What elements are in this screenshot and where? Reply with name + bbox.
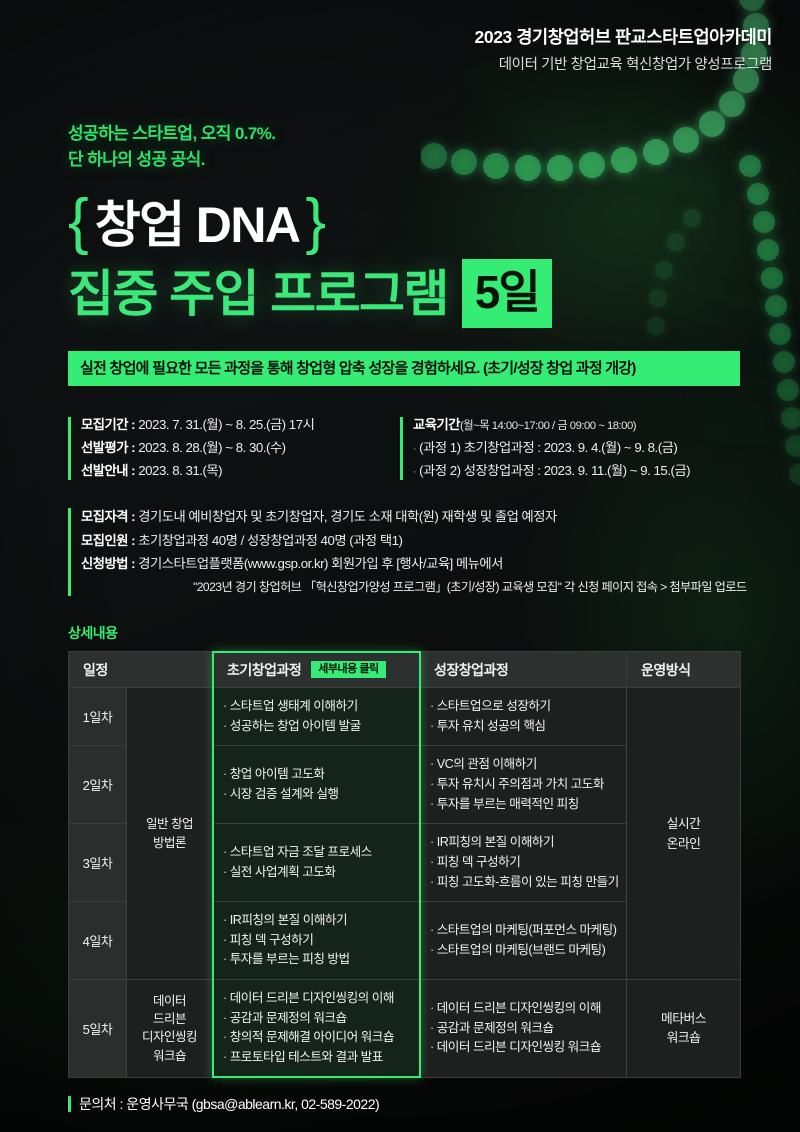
list-item: ·데이터 드리븐 디자인씽킹 워크숍 bbox=[430, 1038, 618, 1058]
bullet-icon: · bbox=[413, 466, 416, 478]
bullet-icon: · bbox=[223, 787, 227, 801]
education-course-1: (과정 1) 초기창업과정 : 2023. 9. 4.(월) ~ 9. 8.(금… bbox=[419, 440, 677, 455]
row-course-a[interactable]: ·창업 아이템 고도화·시장 검증 설계와 실행 bbox=[213, 746, 420, 824]
row-course-b: ·스타트업의 마케팅(퍼포먼스 마케팅)·스타트업의 마케팅(브랜드 마케팅) bbox=[420, 902, 627, 980]
education-period-hours: (월~목 14:00~17:00 / 금 09:00 ~ 18:00) bbox=[460, 420, 636, 432]
education-course-2: (과정 2) 성장창업과정 : 2023. 9. 11.(월) ~ 9. 15.… bbox=[419, 463, 690, 478]
schedule-table: 일정 초기창업과정 세부내용 클릭 성장창업과정 운영방식 bbox=[68, 651, 741, 1078]
hero-title-row-2: 집중 주입 프로그램 5일 bbox=[68, 263, 800, 325]
bullet-icon: · bbox=[430, 875, 434, 889]
bullet-icon: · bbox=[430, 1040, 434, 1054]
list-item: ·투자 유치시 주의점과 가치 고도화 bbox=[430, 775, 618, 795]
row-course-b: ·스타트업으로 성장하기·투자 유치 성공의 핵심 bbox=[420, 688, 627, 746]
info-line: 모집기간 : 2023. 7. 31.(월) ~ 8. 25.(금) 17시 bbox=[81, 414, 378, 437]
bullet-icon: · bbox=[223, 913, 227, 927]
track-data: 데이터드리븐디자인씽킹워크숍 bbox=[127, 980, 213, 1078]
row-course-a[interactable]: ·IR피칭의 본질 이해하기·피칭 덱 구성하기·투자를 부르는 피칭 방법 bbox=[213, 902, 420, 980]
bullet-icon: · bbox=[223, 1011, 227, 1025]
bullet-icon: · bbox=[430, 699, 434, 713]
list-item: ·스타트업으로 성장하기 bbox=[430, 697, 618, 717]
poster-header: 2023 경기창업허브 판교스타트업아카데미 데이터 기반 창업교육 혁신창업가… bbox=[0, 0, 800, 75]
info-col-education-period: 교육기간(월~목 14:00~17:00 / 금 09:00 ~ 18:00) … bbox=[400, 414, 758, 483]
list-item: ·투자를 부르는 피칭 방법 bbox=[223, 950, 411, 970]
bullet-icon: · bbox=[413, 443, 416, 455]
col-header-course-a[interactable]: 초기창업과정 세부내용 클릭 bbox=[213, 652, 420, 688]
contact-line: 문의처 : 운영사무국 (gbsa@ablearn.kr, 02-589-202… bbox=[68, 1094, 668, 1114]
bullet-icon: · bbox=[223, 719, 227, 733]
accent-bar bbox=[68, 417, 71, 480]
row-course-b: ·VC의 관점 이해하기·투자 유치시 주의점과 가치 고도화·투자를 부르는 … bbox=[420, 746, 627, 824]
poster-root: 2023 경기창업허브 판교스타트업아카데미 데이터 기반 창업교육 혁신창업가… bbox=[0, 0, 800, 1132]
list-item: ·실전 사업계획 고도화 bbox=[223, 863, 411, 883]
bullet-icon: · bbox=[430, 777, 434, 791]
bullet-icon: · bbox=[430, 719, 434, 733]
hero-kicker-line1: 성공하는 스타트업, 오직 0.7%. bbox=[68, 121, 800, 147]
row-course-b: ·IR피칭의 본질 이해하기·피칭 덱 구성하기·피칭 고도화-흐름이 있는 피… bbox=[420, 824, 627, 902]
info-line: 모집자격 : 경기도내 예비창업자 및 초기창업자, 경기도 소재 대학(원) … bbox=[81, 505, 758, 529]
table-row: 1일차 일반 창업방법론 ·스타트업 생태계 이해하기·성공하는 창업 아이템 … bbox=[69, 688, 741, 746]
info-value: 경기스타트업플랫폼(www.gsp.or.kr) 회원가입 후 [행사/교육] … bbox=[138, 556, 503, 571]
list-item: ·IR피칭의 본질 이해하기 bbox=[223, 911, 411, 931]
list-item: ·피칭 고도화-흐름이 있는 피칭 만들기 bbox=[430, 873, 618, 893]
info-label: 모집자격 : bbox=[81, 509, 135, 524]
info-columns: 모집기간 : 2023. 7. 31.(월) ~ 8. 25.(금) 17시 선… bbox=[68, 414, 758, 483]
row-course-a[interactable]: ·데이터 드리븐 디자인씽킹의 이해·공감과 문제정의 워크숍·창의적 문제해결… bbox=[213, 980, 420, 1078]
info-col-recruitment: 모집기간 : 2023. 7. 31.(월) ~ 8. 25.(금) 17시 선… bbox=[68, 414, 378, 483]
bullet-icon: · bbox=[223, 767, 227, 781]
list-item: ·피칭 덱 구성하기 bbox=[430, 853, 618, 873]
list-item: ·데이터 드리븐 디자인씽킹의 이해 bbox=[223, 989, 411, 1009]
education-period-label: 교육기간 bbox=[413, 417, 460, 432]
bullet-icon: · bbox=[430, 797, 434, 811]
brace-open-icon: { bbox=[68, 191, 89, 253]
list-item: ·공감과 문제정의 워크숍 bbox=[223, 1009, 411, 1029]
row-day: 5일차 bbox=[69, 980, 127, 1078]
list-item: ·VC의 관점 이해하기 bbox=[430, 755, 618, 775]
row-course-b: ·데이터 드리븐 디자인씽킹의 이해·공감과 문제정의 워크숍·데이터 드리븐 … bbox=[420, 980, 627, 1078]
track-general: 일반 창업방법론 bbox=[127, 688, 213, 980]
list-item: ·스타트업의 마케팅(브랜드 마케팅) bbox=[430, 941, 618, 961]
row-course-a[interactable]: ·스타트업 자금 조달 프로세스·실전 사업계획 고도화 bbox=[213, 824, 420, 902]
list-item: ·창의적 문제해결 아이디어 워크숍 bbox=[223, 1028, 411, 1048]
info-value: 초기창업과정 40명 / 성장창업과정 40명 (과정 택1) bbox=[138, 533, 402, 548]
info-line: 신청방법 : 경기스타트업플랫폼(www.gsp.or.kr) 회원가입 후 [… bbox=[81, 552, 758, 576]
list-item: ·투자를 부르는 매력적인 피칭 bbox=[430, 795, 618, 815]
hero-title-line2: 집중 주입 프로그램 bbox=[68, 269, 448, 319]
schedule-section-title: 상세내용 bbox=[68, 623, 800, 643]
info-line: 선발평가 : 2023. 8. 28.(월) ~ 8. 30.(수) bbox=[81, 437, 378, 460]
list-item: ·창업 아이템 고도화 bbox=[223, 765, 411, 785]
hero-kicker-line2: 단 하나의 성공 공식. bbox=[68, 147, 800, 173]
list-item: ·스타트업 자금 조달 프로세스 bbox=[223, 843, 411, 863]
bullet-icon: · bbox=[223, 1030, 227, 1044]
bullet-icon: · bbox=[430, 757, 434, 771]
mode-metaverse: 메타버스워크숍 bbox=[627, 980, 741, 1078]
info-line: ·(과정 2) 성장창업과정 : 2023. 9. 11.(월) ~ 9. 15… bbox=[413, 460, 758, 483]
hero-green-bar: 실전 창업에 필요한 모든 과정을 통해 창업형 압축 성장을 경험하세요. (… bbox=[68, 351, 740, 387]
list-item: ·스타트업의 마케팅(퍼포먼스 마케팅) bbox=[430, 921, 618, 941]
accent-bar bbox=[400, 417, 403, 480]
col-header-course-b: 성장창업과정 bbox=[420, 652, 627, 688]
bullet-icon: · bbox=[223, 991, 227, 1005]
hero-kicker: 성공하는 스타트업, 오직 0.7%. 단 하나의 성공 공식. bbox=[68, 121, 800, 173]
col-header-course-a-label: 초기창업과정 bbox=[227, 660, 301, 680]
accent-bar bbox=[68, 1096, 71, 1112]
bullet-icon: · bbox=[430, 923, 434, 937]
application-note: "2023년 경기 창업허브 「혁신창업가양성 프로그램」(초기/성장) 교육생… bbox=[81, 576, 758, 599]
hero-section: 성공하는 스타트업, 오직 0.7%. 단 하나의 성공 공식. { 창업 DN… bbox=[0, 75, 800, 325]
info-label: 선발평가 : bbox=[81, 440, 135, 455]
bullet-icon: · bbox=[223, 952, 227, 966]
list-item: ·시장 검증 설계와 실행 bbox=[223, 785, 411, 805]
hero-title-line1: 창업 DNA bbox=[95, 200, 300, 250]
row-day: 1일차 bbox=[69, 688, 127, 746]
list-item: ·성공하는 창업 아이템 발굴 bbox=[223, 717, 411, 737]
row-day: 4일차 bbox=[69, 902, 127, 980]
row-course-a[interactable]: ·스타트업 생태계 이해하기·성공하는 창업 아이템 발굴 bbox=[213, 688, 420, 746]
table-header-row: 일정 초기창업과정 세부내용 클릭 성장창업과정 운영방식 bbox=[69, 652, 741, 688]
hero-title-row-1: { 창업 DNA } bbox=[68, 195, 800, 255]
table-row: 5일차 데이터드리븐디자인씽킹워크숍 ·데이터 드리븐 디자인씽킹의 이해·공감… bbox=[69, 980, 741, 1078]
bullet-icon: · bbox=[430, 835, 434, 849]
bullet-icon: · bbox=[430, 1001, 434, 1015]
schedule-table-body: 1일차 일반 창업방법론 ·스타트업 생태계 이해하기·성공하는 창업 아이템 … bbox=[69, 688, 741, 1078]
info-value: 2023. 8. 31.(목) bbox=[138, 463, 222, 478]
info-line: ·(과정 1) 초기창업과정 : 2023. 9. 4.(월) ~ 9. 8.(… bbox=[413, 437, 758, 460]
list-item: ·스타트업 생태계 이해하기 bbox=[223, 697, 411, 717]
info-label: 신청방법 : bbox=[81, 556, 135, 571]
bullet-icon: · bbox=[223, 845, 227, 859]
list-item: ·데이터 드리븐 디자인씽킹의 이해 bbox=[430, 999, 618, 1019]
bullet-icon: · bbox=[430, 943, 434, 957]
accent-bar bbox=[68, 508, 71, 596]
info-line: 모집인원 : 초기창업과정 40명 / 성장창업과정 40명 (과정 택1) bbox=[81, 529, 758, 553]
info-value: 2023. 8. 28.(월) ~ 8. 30.(수) bbox=[138, 440, 285, 455]
list-item: ·공감과 문제정의 워크숍 bbox=[430, 1019, 618, 1039]
list-item: ·투자 유치 성공의 핵심 bbox=[430, 717, 618, 737]
info-label: 선발안내 : bbox=[81, 463, 135, 478]
header-title: 2023 경기창업허브 판교스타트업아카데미 bbox=[0, 26, 772, 50]
bullet-icon: · bbox=[430, 855, 434, 869]
mode-online: 실시간온라인 bbox=[627, 688, 741, 980]
list-item: ·프로토타입 테스트와 결과 발표 bbox=[223, 1048, 411, 1068]
days-badge: 5일 bbox=[462, 259, 552, 328]
bullet-icon: · bbox=[223, 1050, 227, 1064]
bullet-icon: · bbox=[430, 1021, 434, 1035]
detail-click-badge[interactable]: 세부내용 클릭 bbox=[311, 661, 385, 678]
col-header-mode: 운영방식 bbox=[627, 652, 741, 688]
info-label: 모집인원 : bbox=[81, 533, 135, 548]
info-label: 모집기간 : bbox=[81, 417, 135, 432]
header-subtitle: 데이터 기반 창업교육 혁신창업가 양성프로그램 bbox=[0, 56, 772, 76]
info-line: 선발안내 : 2023. 8. 31.(목) bbox=[81, 460, 378, 483]
contact-text: 문의처 : 운영사무국 (gbsa@ablearn.kr, 02-589-202… bbox=[79, 1096, 379, 1112]
col-header-day: 일정 bbox=[69, 652, 213, 688]
info-block-application: 모집자격 : 경기도내 예비창업자 및 초기창업자, 경기도 소재 대학(원) … bbox=[68, 505, 758, 599]
bullet-icon: · bbox=[223, 699, 227, 713]
education-period-header: 교육기간(월~목 14:00~17:00 / 금 09:00 ~ 18:00) bbox=[413, 414, 758, 437]
bullet-icon: · bbox=[223, 865, 227, 879]
info-value: 경기도내 예비창업자 및 초기창업자, 경기도 소재 대학(원) 재학생 및 졸… bbox=[138, 509, 556, 524]
bullet-icon: · bbox=[223, 933, 227, 947]
schedule-table-wrapper: 일정 초기창업과정 세부내용 클릭 성장창업과정 운영방식 bbox=[68, 651, 740, 1078]
row-day: 3일차 bbox=[69, 824, 127, 902]
info-value: 2023. 7. 31.(월) ~ 8. 25.(금) 17시 bbox=[138, 417, 314, 432]
row-day: 2일차 bbox=[69, 746, 127, 824]
brace-close-icon: } bbox=[305, 191, 326, 253]
list-item: ·피칭 덱 구성하기 bbox=[223, 931, 411, 951]
list-item: ·IR피칭의 본질 이해하기 bbox=[430, 833, 618, 853]
